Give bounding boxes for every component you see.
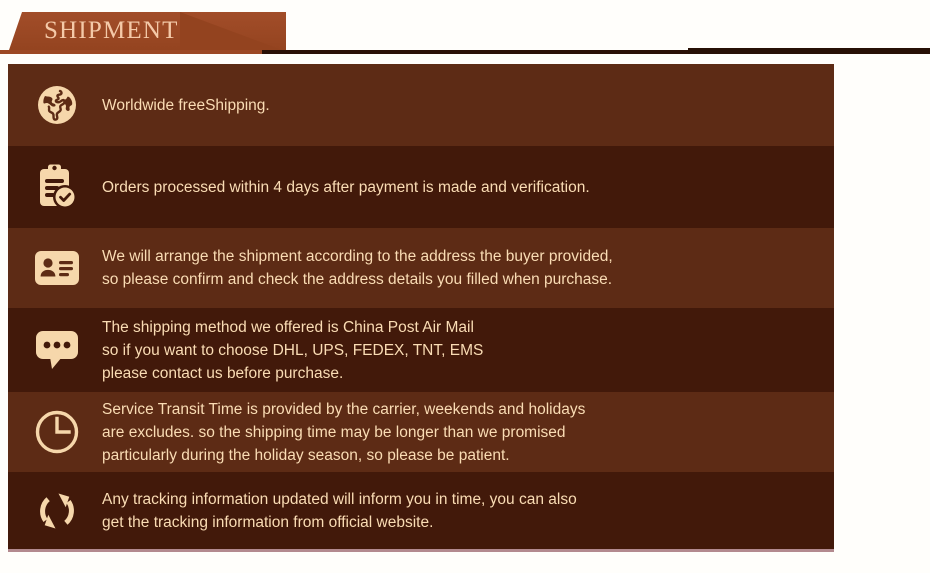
list-item-text: Any tracking information updated will in… xyxy=(88,488,834,534)
panel-header: SHIPMENT xyxy=(0,0,930,57)
list-item-text: The shipping method we offered is China … xyxy=(88,316,834,385)
list-item: Any tracking information updated will in… xyxy=(8,472,834,549)
list-item: The shipping method we offered is China … xyxy=(8,308,834,392)
list-item: Service Transit Time is provided by the … xyxy=(8,392,834,472)
list-item-text: Worldwide freeShipping. xyxy=(88,94,834,117)
list-item: Orders processed within 4 days after pay… xyxy=(8,146,834,228)
shipment-info-panel: SHIPMENT Worldwide freeShipping. xyxy=(0,0,930,573)
list-item: We will arrange the shipment according t… xyxy=(8,228,834,308)
header-rule-dark-tail xyxy=(688,48,930,54)
globe-icon xyxy=(26,83,88,127)
header-rule-light xyxy=(0,50,268,54)
list-item: Worldwide freeShipping. xyxy=(8,64,834,146)
clock-icon xyxy=(26,409,88,455)
refresh-sync-icon xyxy=(26,487,88,535)
clipboard-check-icon xyxy=(26,162,88,212)
id-card-icon xyxy=(26,250,88,286)
speech-bubble-icon xyxy=(26,329,88,371)
page-title: SHIPMENT xyxy=(44,17,179,45)
list-item-text: Service Transit Time is provided by the … xyxy=(88,398,834,467)
shipment-rows-list: Worldwide freeShipping. Orders processed… xyxy=(8,64,834,552)
list-item-text: We will arrange the shipment according t… xyxy=(88,245,834,291)
list-item-text: Orders processed within 4 days after pay… xyxy=(88,176,834,199)
